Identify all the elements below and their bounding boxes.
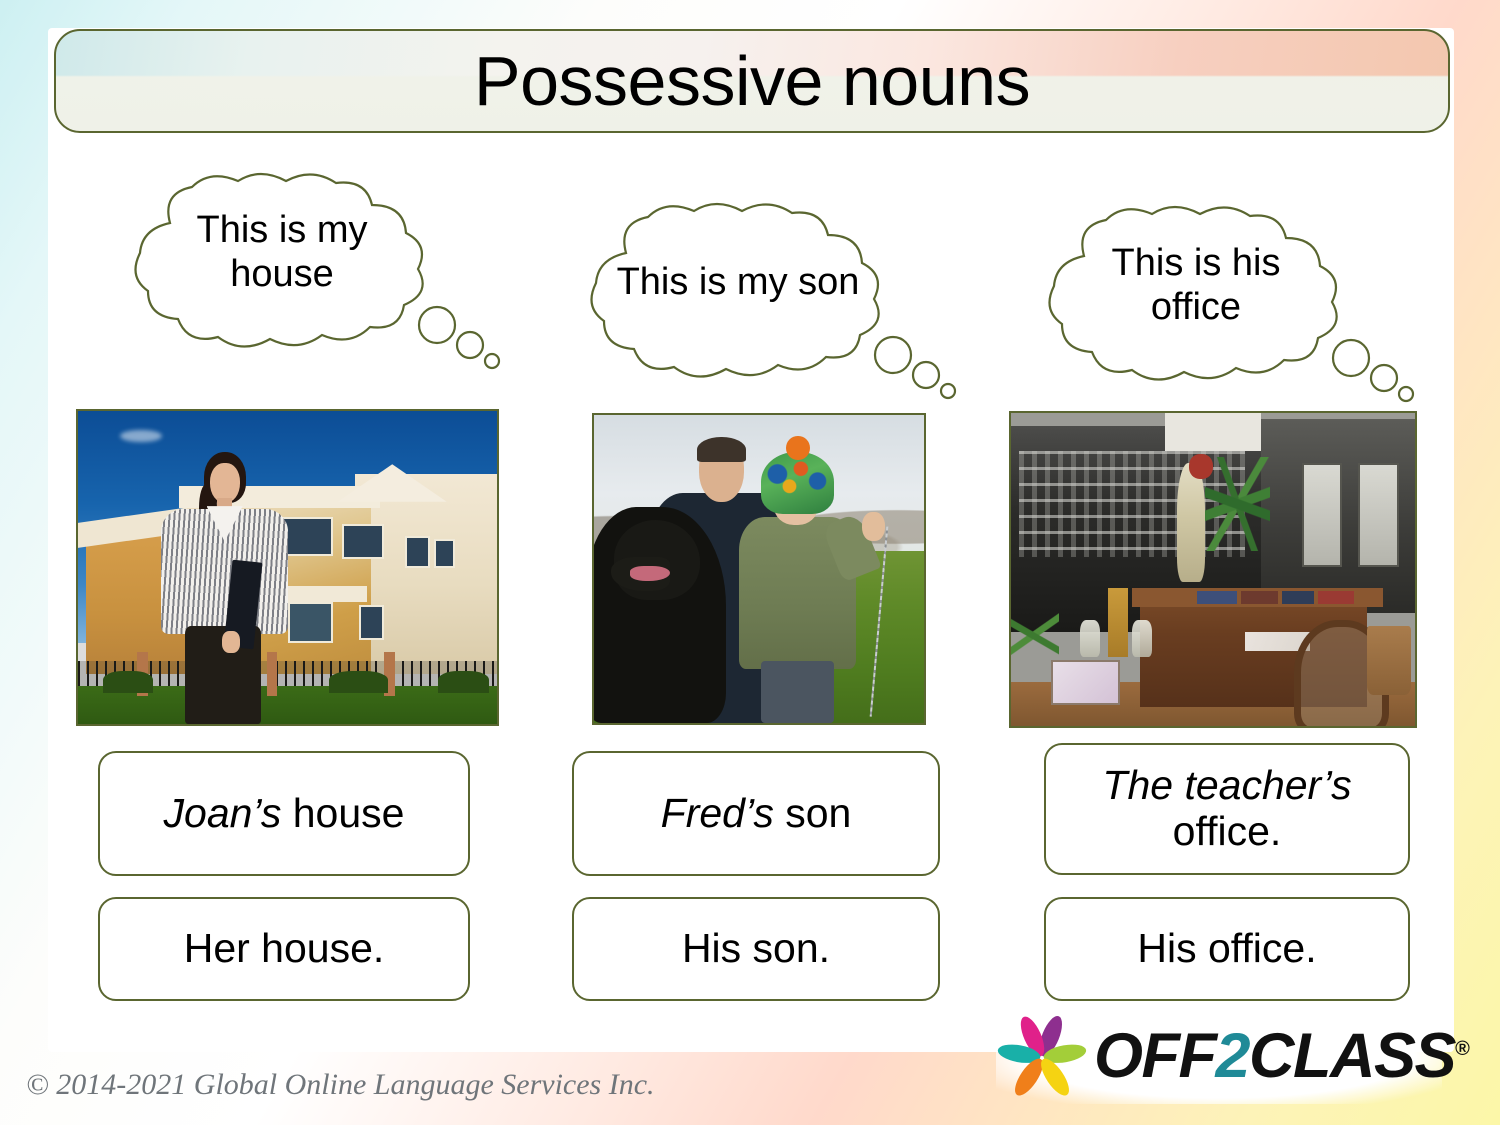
flower-logo-icon	[996, 1013, 1088, 1099]
photo-woman-and-house	[76, 409, 499, 726]
registered-trademark-icon: ®	[1455, 1038, 1468, 1060]
copyright-notice: © 2014-2021 Global Online Language Servi…	[26, 1068, 655, 1102]
thought-bubble-office: This is his office	[1006, 208, 1386, 388]
logo-off: OFF	[1094, 1021, 1215, 1091]
possessed-noun: house	[281, 790, 404, 836]
pronoun-phrase: His son.	[682, 926, 830, 972]
logo-wordmark: OFF2CLASS®	[1094, 1020, 1468, 1092]
possessive-noun: The teacher’s	[1102, 762, 1351, 808]
pronoun-phrase: His office.	[1137, 926, 1316, 972]
photo-man-son-dog	[592, 413, 926, 725]
thought-bubble-text: This is my son	[604, 205, 872, 361]
photo-vintage-office	[1009, 411, 1417, 728]
answer-possessive-office[interactable]: The teacher’s office.	[1044, 743, 1410, 875]
logo-two: 2	[1215, 1021, 1249, 1091]
page-title: Possessive nouns	[56, 46, 1448, 116]
answer-pronoun-office[interactable]: His office.	[1044, 897, 1410, 1001]
possessive-noun: Fred’s	[661, 790, 774, 836]
thought-bubble-text: This is my house	[148, 175, 416, 331]
off2class-logo: OFF2CLASS®	[996, 1008, 1442, 1104]
logo-class: CLASS	[1249, 1021, 1455, 1091]
slide-title-bar: Possessive nouns	[54, 29, 1450, 133]
answer-possessive-son[interactable]: Fred’s son	[572, 751, 940, 876]
thought-bubble-text: This is his office	[1062, 208, 1330, 364]
thought-bubble-house: This is my house	[92, 175, 472, 355]
possessed-noun: office.	[1173, 808, 1282, 854]
answer-pronoun-house[interactable]: Her house.	[98, 897, 470, 1001]
possessive-noun: Joan’s	[164, 790, 282, 836]
answer-pronoun-son[interactable]: His son.	[572, 897, 940, 1001]
answer-possessive-house[interactable]: Joan’s house	[98, 751, 470, 876]
slide-canvas: Possessive nouns This is my house This i…	[0, 0, 1500, 1125]
possessed-noun: son	[774, 790, 852, 836]
pronoun-phrase: Her house.	[184, 926, 385, 972]
thought-bubble-son: This is my son	[548, 205, 928, 385]
